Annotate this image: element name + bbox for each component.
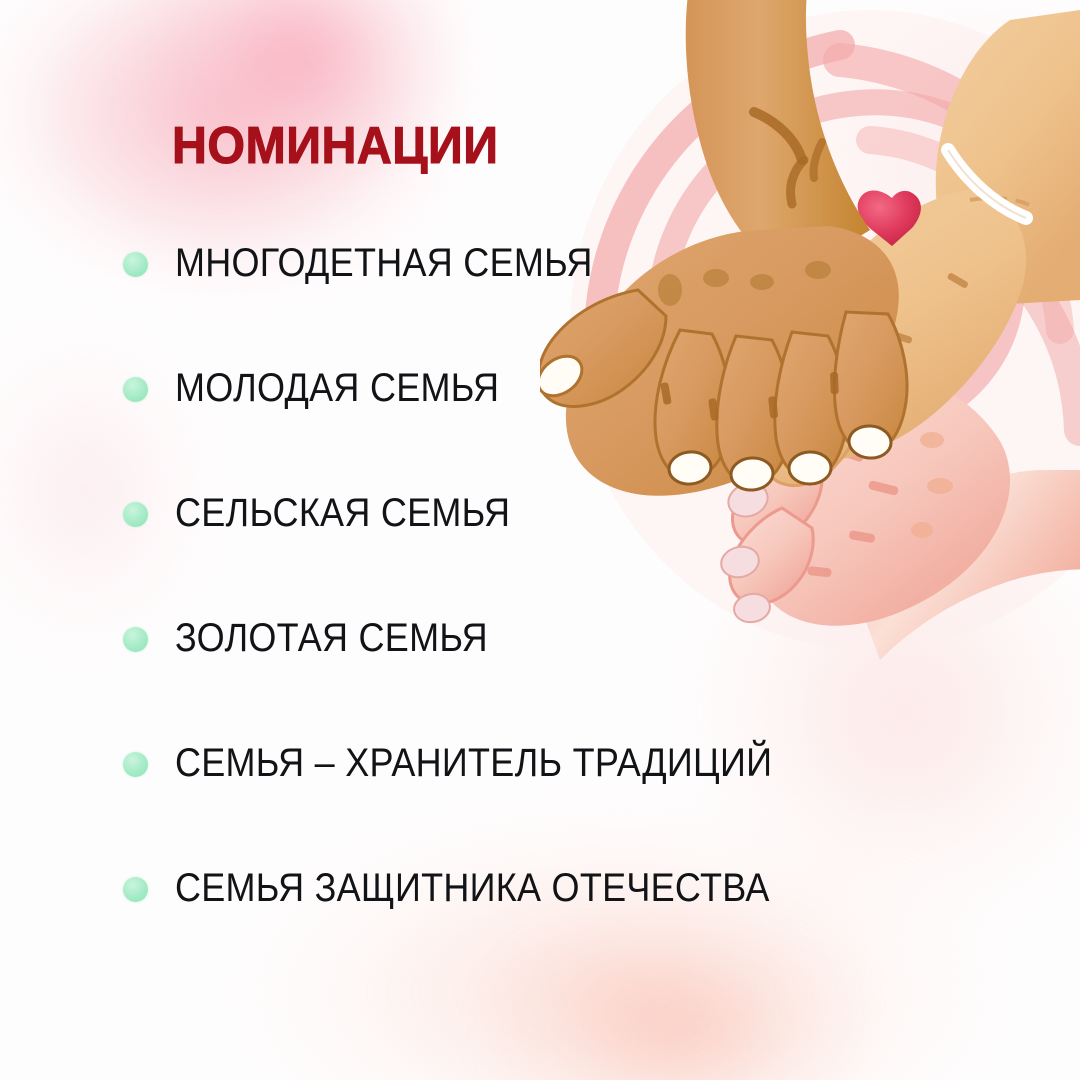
nomination-label: СЕМЬЯ ЗАЩИТНИКА ОТЕЧЕСТВА — [175, 866, 770, 910]
bullet-dot-icon — [123, 377, 148, 402]
nomination-label: СЕЛЬСКАЯ СЕМЬЯ — [175, 491, 510, 535]
nomination-label: ЗОЛОТАЯ СЕМЬЯ — [175, 616, 488, 660]
bullet-dot-icon — [123, 877, 148, 902]
nomination-label: МОЛОДАЯ СЕМЬЯ — [175, 366, 499, 410]
text-column: НОМИНАЦИИ МНОГОДЕТНАЯ СЕМЬЯ МОЛОДАЯ СЕМЬ… — [0, 0, 700, 1080]
bullet-dot-icon — [123, 252, 148, 277]
bullet-dot-icon — [123, 752, 148, 777]
bullet-dot-icon — [123, 502, 148, 527]
nomination-label: СЕМЬЯ – ХРАНИТЕЛЬ ТРАДИЦИЙ — [175, 741, 772, 785]
nomination-label: МНОГОДЕТНАЯ СЕМЬЯ — [175, 241, 593, 285]
poster-canvas: НОМИНАЦИИ МНОГОДЕТНАЯ СЕМЬЯ МОЛОДАЯ СЕМЬ… — [0, 0, 1080, 1080]
page-title: НОМИНАЦИИ — [172, 118, 498, 174]
bullet-dot-icon — [123, 627, 148, 652]
